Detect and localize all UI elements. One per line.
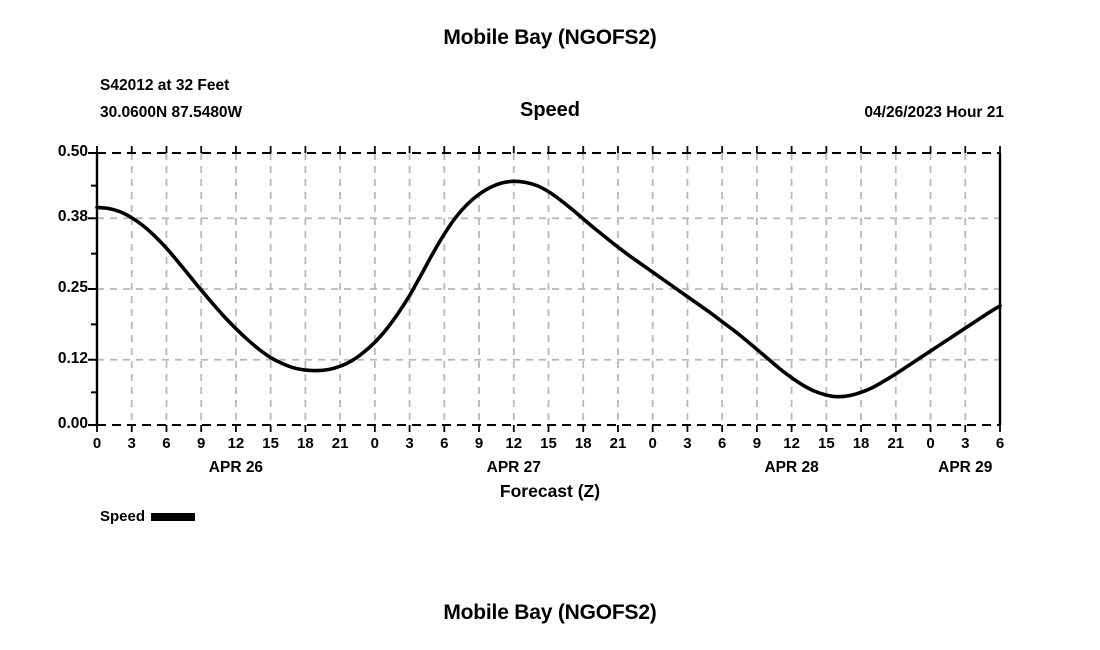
speed-line-chart <box>97 153 1000 425</box>
x-tick-label: 18 <box>853 435 870 452</box>
y-tick-label: 0.00 <box>58 415 88 433</box>
y-tick-label: 0.38 <box>58 208 88 226</box>
chart-legend: Speed <box>100 508 195 525</box>
x-tick-label: 12 <box>228 435 245 452</box>
x-tick-label: 0 <box>649 435 657 452</box>
x-tick-label: 9 <box>475 435 483 452</box>
legend-swatch-speed <box>151 513 195 521</box>
station-label: S42012 at 32 Feet <box>100 77 229 95</box>
x-day-label: APR 28 <box>764 459 818 477</box>
x-tick-label: 21 <box>332 435 349 452</box>
model-run-label: 04/26/2023 Hour 21 <box>864 104 1004 122</box>
x-tick-label: 0 <box>93 435 101 452</box>
x-day-label: APR 26 <box>209 459 263 477</box>
x-day-label: APR 27 <box>487 459 541 477</box>
y-tick-label: 0.25 <box>58 279 88 297</box>
x-tick-label: 12 <box>783 435 800 452</box>
x-tick-label: 18 <box>297 435 314 452</box>
x-tick-label: 3 <box>405 435 413 452</box>
x-tick-label: 0 <box>926 435 934 452</box>
y-tick-label: 0.50 <box>58 143 88 161</box>
x-tick-label: 9 <box>753 435 761 452</box>
x-tick-label: 3 <box>683 435 691 452</box>
x-tick-label: 18 <box>575 435 592 452</box>
x-tick-label: 21 <box>610 435 627 452</box>
page-title-top: Mobile Bay (NGOFS2) <box>0 26 1100 50</box>
x-tick-label: 6 <box>162 435 170 452</box>
x-tick-label: 15 <box>540 435 557 452</box>
plot-area <box>97 153 1000 425</box>
x-tick-label: 0 <box>371 435 379 452</box>
x-day-label: APR 29 <box>938 459 992 477</box>
x-tick-label: 9 <box>197 435 205 452</box>
x-tick-label: 6 <box>440 435 448 452</box>
x-tick-label: 6 <box>996 435 1004 452</box>
chart-page: Mobile Bay (NGOFS2) S42012 at 32 Feet 30… <box>0 0 1100 650</box>
y-tick-label: 0.12 <box>58 350 88 368</box>
x-axis-title: Forecast (Z) <box>0 481 1100 502</box>
x-tick-label: 6 <box>718 435 726 452</box>
x-tick-label: 3 <box>128 435 136 452</box>
page-title-bottom: Mobile Bay (NGOFS2) <box>0 601 1100 625</box>
legend-label-speed: Speed <box>100 508 145 525</box>
x-tick-label: 15 <box>262 435 279 452</box>
x-tick-label: 21 <box>887 435 904 452</box>
x-tick-label: 12 <box>505 435 522 452</box>
x-tick-label: 3 <box>961 435 969 452</box>
x-tick-label: 15 <box>818 435 835 452</box>
